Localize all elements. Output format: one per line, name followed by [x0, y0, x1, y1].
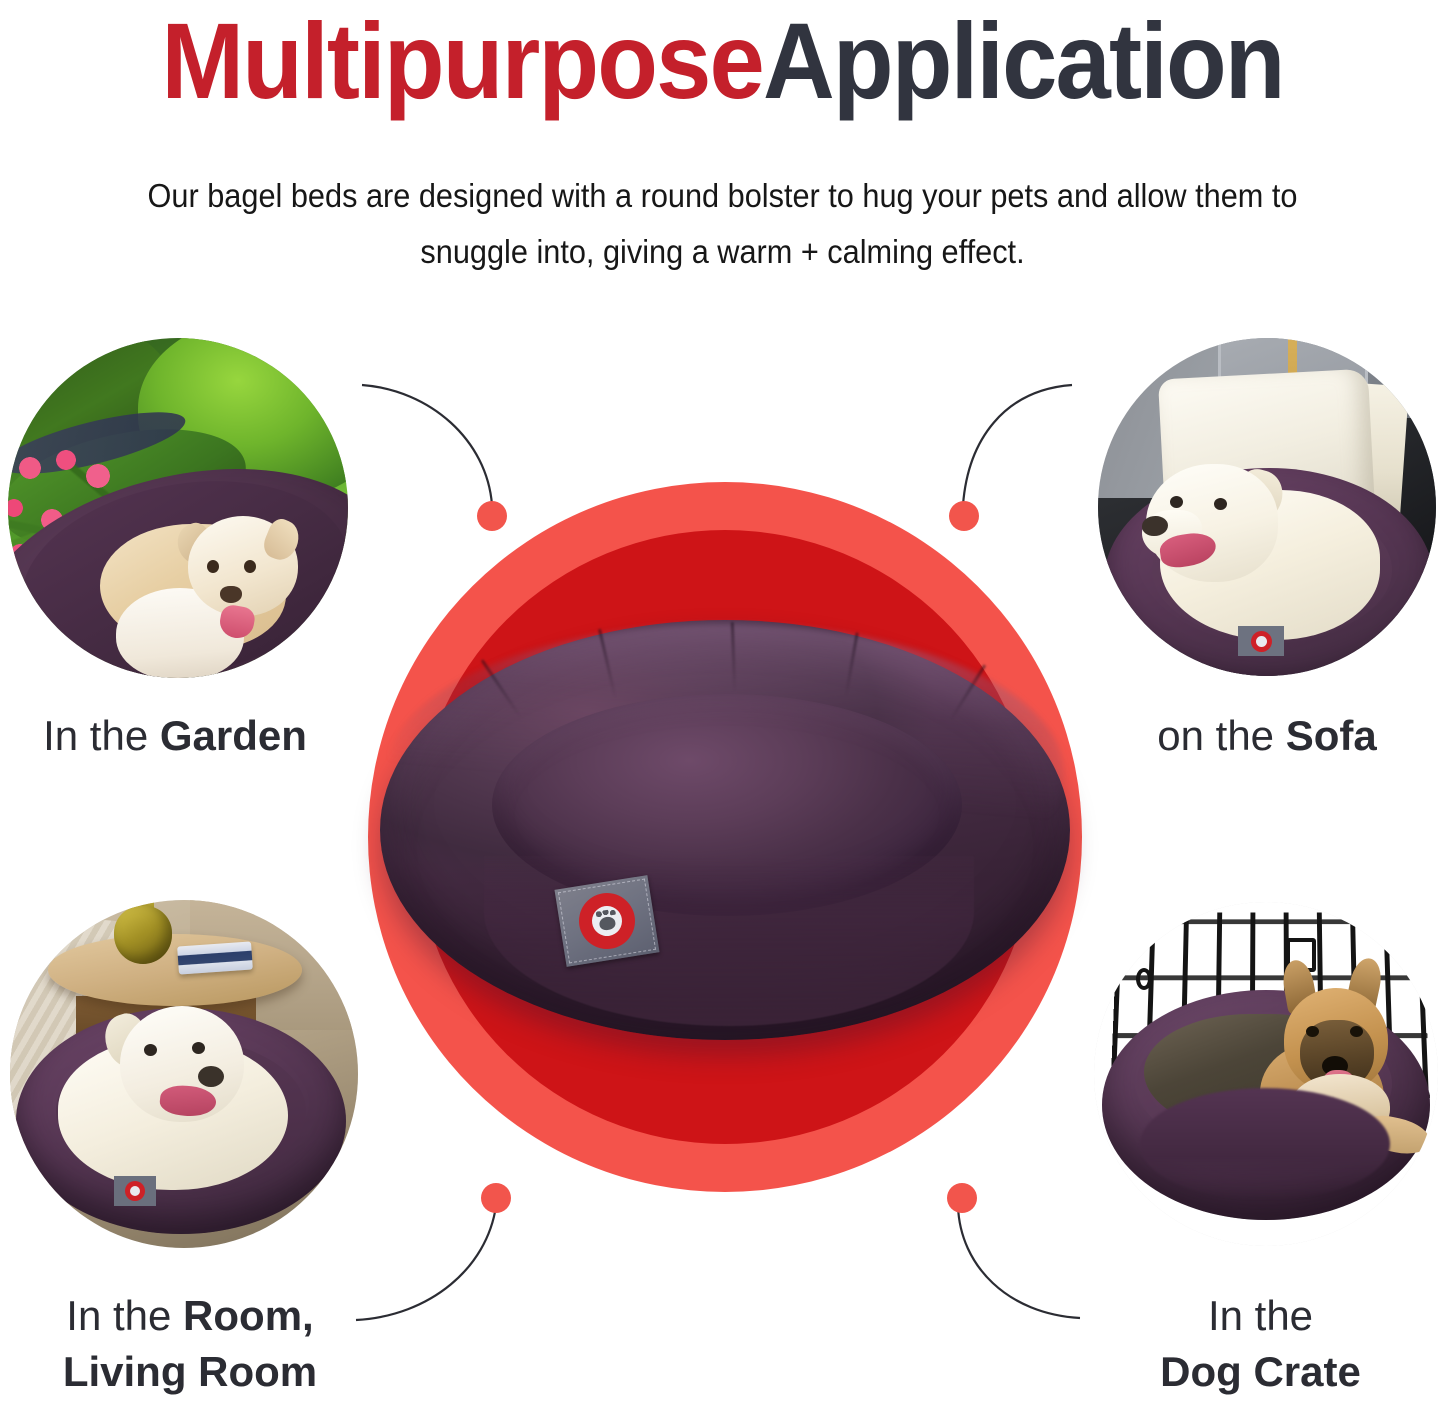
room-coffee-table — [48, 934, 302, 1006]
crate-dog-eye — [1350, 1026, 1363, 1037]
caption-room-line-2: Living Room — [0, 1344, 380, 1400]
sofa-dog-eye — [1214, 498, 1227, 510]
caption-crate-prefix: In the — [1208, 1292, 1313, 1339]
caption-garden-bold: Garden — [160, 712, 307, 759]
subtitle-line-2: snuggle into, giving a warm + calming ef… — [97, 224, 1348, 280]
photo-circle-sofa — [1098, 338, 1436, 676]
caption-room-bold-2: Living Room — [63, 1348, 317, 1395]
room-dog-eye — [144, 1044, 157, 1056]
crate-dog-eye — [1306, 1026, 1319, 1037]
subtitle-line-1: Our bagel beds are designed with a round… — [97, 168, 1348, 224]
dog-crate-scene — [1094, 902, 1438, 1246]
center-highlight-ring — [368, 482, 1082, 1192]
photo-circle-garden — [8, 338, 348, 678]
sofa-scene — [1098, 338, 1436, 676]
room-dog-eye — [192, 1042, 205, 1054]
infographic-page: MultipurposeApplication Our bagel beds a… — [0, 0, 1445, 1417]
caption-crate-line-1: In the — [1078, 1288, 1443, 1344]
caption-crate-bold-2: Dog Crate — [1160, 1348, 1361, 1395]
caption-dog-crate: In the Dog Crate — [1078, 1288, 1443, 1400]
living-room-scene — [10, 900, 358, 1248]
crate-dog-bed-front — [1140, 1088, 1390, 1200]
room-gold-vase — [114, 906, 172, 964]
caption-crate-line-2: Dog Crate — [1078, 1344, 1443, 1400]
garden-scene — [8, 338, 348, 678]
room-brand-tag — [114, 1176, 156, 1206]
caption-garden-prefix: In the — [43, 712, 160, 759]
caption-sofa: on the Sofa — [1092, 708, 1442, 764]
title-word-multipurpose: Multipurpose — [161, 0, 763, 121]
paw-print-icon — [125, 1181, 145, 1201]
sofa-dog-eye — [1170, 496, 1183, 508]
photo-circle-dog-crate — [1094, 902, 1438, 1246]
paw-print-icon — [1251, 631, 1272, 652]
caption-sofa-bold: Sofa — [1286, 712, 1377, 759]
caption-room-line-1: In the Room, — [0, 1288, 380, 1344]
photo-circle-living-room — [10, 900, 358, 1248]
connector-curve-crate — [958, 1206, 1080, 1318]
caption-room-bold: Room, — [183, 1292, 314, 1339]
page-subtitle: Our bagel beds are designed with a round… — [97, 168, 1348, 280]
sofa-brand-tag — [1238, 626, 1284, 656]
garden-dog-eye — [207, 560, 219, 573]
garden-dog-nose — [220, 586, 242, 603]
crate-hook — [1136, 968, 1152, 990]
caption-room-prefix: In the — [66, 1292, 183, 1339]
page-title: MultipurposeApplication — [58, 2, 1387, 120]
caption-garden: In the Garden — [0, 708, 350, 764]
connector-dot-garden — [477, 501, 507, 531]
room-books — [177, 941, 253, 974]
connector-curve-garden — [362, 385, 492, 505]
center-highlight-inner — [416, 530, 1034, 1144]
title-word-application: Application — [763, 0, 1284, 121]
connector-dot-room — [481, 1183, 511, 1213]
connector-dot-crate — [947, 1183, 977, 1213]
connector-dot-sofa — [949, 501, 979, 531]
caption-living-room: In the Room, Living Room — [0, 1288, 380, 1400]
connector-curve-sofa — [963, 385, 1072, 505]
room-dog-nose — [198, 1066, 224, 1087]
caption-sofa-prefix: on the — [1157, 712, 1285, 759]
garden-dog-eye — [244, 560, 256, 573]
